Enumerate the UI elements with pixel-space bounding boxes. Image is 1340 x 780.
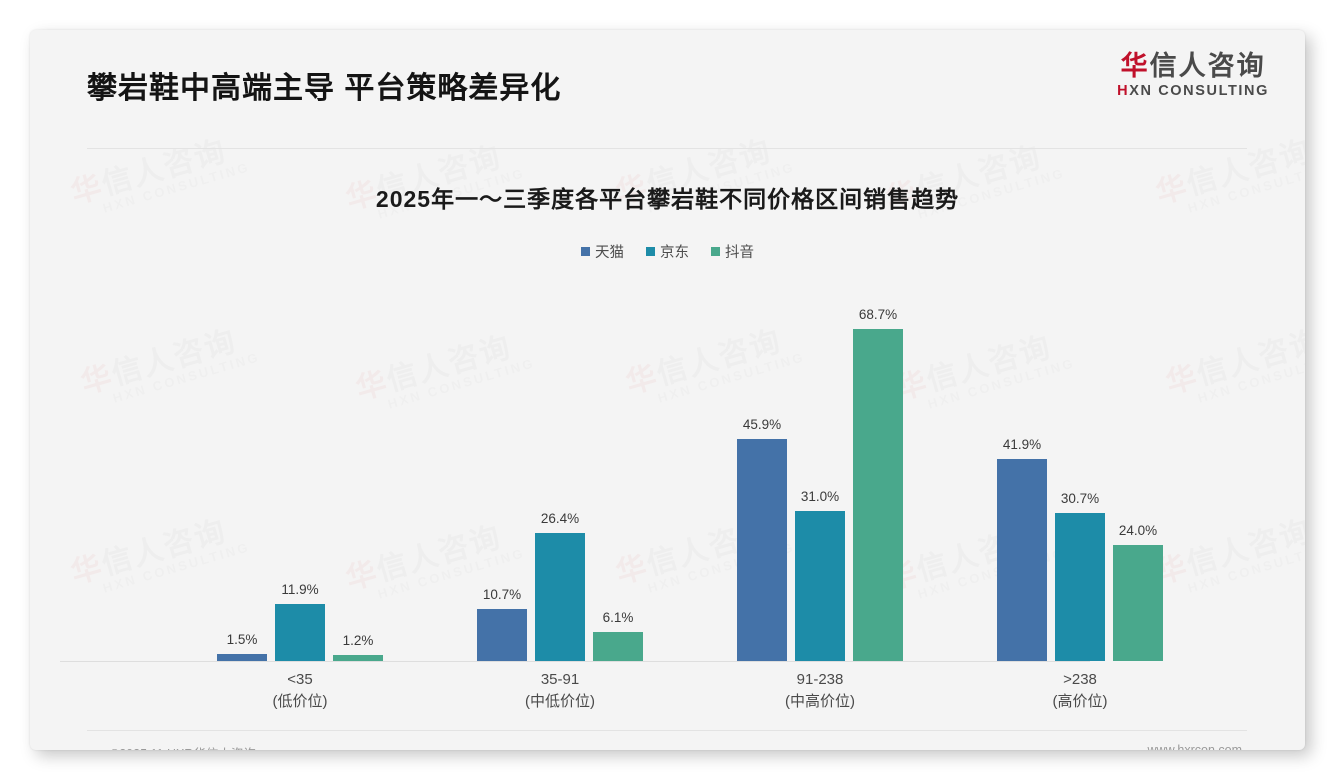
bar-value-label: 1.5%	[227, 632, 258, 647]
bar-column-京东[interactable]: 30.7%	[1055, 280, 1105, 661]
bar[interactable]	[477, 609, 527, 661]
x-axis-category-range: >238	[965, 669, 1195, 691]
bar-value-label: 24.0%	[1119, 523, 1157, 538]
footer-copyright: ©2025.11 HXR华信人咨询	[110, 743, 256, 750]
bar-column-京东[interactable]: 11.9%	[275, 280, 325, 661]
legend-label: 京东	[660, 241, 689, 262]
x-axis-category: <35(低价位)	[185, 669, 415, 713]
bar-group: 41.9%30.7%24.0%	[965, 280, 1195, 661]
bar-column-天猫[interactable]: 41.9%	[997, 280, 1047, 661]
bar-column-抖音[interactable]: 1.2%	[333, 280, 383, 661]
logo-english-red: H	[1117, 83, 1129, 99]
footer-divider	[87, 730, 1247, 731]
slide-card: 华信人咨询HXN CONSULTING华信人咨询HXN CONSULTING华信…	[30, 30, 1305, 750]
logo-chinese-rest: 信人咨询	[1150, 51, 1266, 81]
x-axis-categories: <35(低价位)35-91(中低价位)91-238(中高价位)>238(高价位)	[170, 669, 1210, 713]
logo-english: HXN CONSULTING	[1117, 83, 1269, 99]
x-axis-category-range: 91-238	[705, 669, 935, 691]
x-axis-category: 35-91(中低价位)	[445, 669, 675, 713]
header-divider	[87, 148, 1247, 149]
bar[interactable]	[997, 459, 1047, 661]
logo-english-rest: XN CONSULTING	[1129, 83, 1269, 99]
legend-item-京东[interactable]: 京东	[646, 241, 689, 262]
bar-column-抖音[interactable]: 24.0%	[1113, 280, 1163, 661]
bar-value-label: 68.7%	[859, 307, 897, 322]
footer-website: www.hxrcon.com	[1148, 743, 1242, 750]
bar[interactable]	[217, 654, 267, 661]
bar-value-label: 41.9%	[1003, 437, 1041, 452]
x-axis-category-range: <35	[185, 669, 415, 691]
legend-label: 天猫	[595, 241, 624, 262]
bar-column-京东[interactable]: 26.4%	[535, 280, 585, 661]
bar-column-抖音[interactable]: 68.7%	[853, 280, 903, 661]
legend-swatch-icon	[711, 247, 720, 256]
bar-value-label: 11.9%	[281, 582, 318, 597]
x-axis-category-tier: (高价位)	[965, 691, 1195, 713]
bar[interactable]	[593, 632, 643, 661]
brand-logo: 华信人咨询 HXN CONSULTING	[1117, 52, 1269, 99]
x-axis-category: 91-238(中高价位)	[705, 669, 935, 713]
bar-group: 10.7%26.4%6.1%	[445, 280, 675, 661]
bar-value-label: 30.7%	[1061, 491, 1099, 506]
bar-group: 45.9%31.0%68.7%	[705, 280, 935, 661]
bar-value-label: 1.2%	[343, 633, 374, 648]
logo-chinese-red: 华	[1121, 51, 1150, 81]
bar-group: 1.5%11.9%1.2%	[185, 280, 415, 661]
bar[interactable]	[1055, 513, 1105, 661]
legend-item-天猫[interactable]: 天猫	[581, 241, 624, 262]
page-title: 攀岩鞋中高端主导 平台策略差异化	[87, 63, 561, 107]
x-axis-line	[60, 661, 1090, 662]
bar-column-天猫[interactable]: 10.7%	[477, 280, 527, 661]
x-axis-category-range: 35-91	[445, 669, 675, 691]
x-axis-category: >238(高价位)	[965, 669, 1195, 713]
bar[interactable]	[333, 655, 383, 661]
x-axis-category-tier: (中高价位)	[705, 691, 935, 713]
bar-value-label: 26.4%	[541, 511, 579, 526]
bar[interactable]	[1113, 545, 1163, 661]
bar[interactable]	[737, 439, 787, 661]
slide-header: 攀岩鞋中高端主导 平台策略差异化 华信人咨询 HXN CONSULTING	[30, 30, 1305, 126]
bar-value-label: 31.0%	[801, 489, 839, 504]
bar-column-天猫[interactable]: 1.5%	[217, 280, 267, 661]
legend-item-抖音[interactable]: 抖音	[711, 241, 754, 262]
legend-swatch-icon	[581, 247, 590, 256]
bar-value-label: 45.9%	[743, 417, 781, 432]
bar-column-京东[interactable]: 31.0%	[795, 280, 845, 661]
x-axis-category-tier: (低价位)	[185, 691, 415, 713]
bar[interactable]	[535, 533, 585, 661]
bar[interactable]	[853, 329, 903, 661]
bar-groups: 1.5%11.9%1.2%10.7%26.4%6.1%45.9%31.0%68.…	[170, 280, 1210, 661]
screenshot-root: 华信人咨询HXN CONSULTING华信人咨询HXN CONSULTING华信…	[0, 0, 1340, 780]
legend-swatch-icon	[646, 247, 655, 256]
x-axis-category-tier: (中低价位)	[445, 691, 675, 713]
bar-value-label: 10.7%	[483, 587, 521, 602]
chart-title: 2025年一～三季度各平台攀岩鞋不同价格区间销售趋势	[30, 180, 1305, 214]
bar[interactable]	[795, 511, 845, 661]
bar-column-天猫[interactable]: 45.9%	[737, 280, 787, 661]
bar[interactable]	[275, 604, 325, 662]
bar-column-抖音[interactable]: 6.1%	[593, 280, 643, 661]
logo-chinese: 华信人咨询	[1117, 52, 1269, 80]
chart-legend: 天猫京东抖音	[30, 241, 1305, 262]
legend-label: 抖音	[725, 241, 754, 262]
bar-value-label: 6.1%	[603, 610, 634, 625]
